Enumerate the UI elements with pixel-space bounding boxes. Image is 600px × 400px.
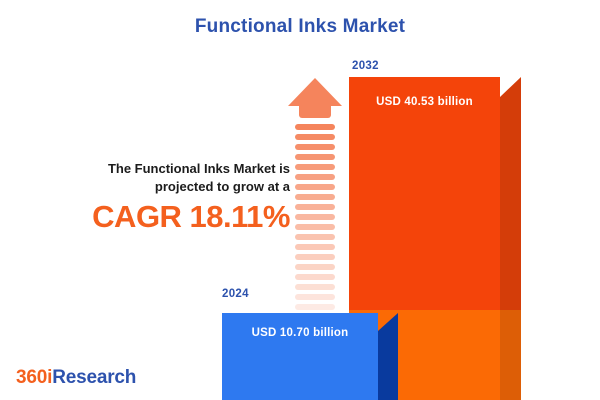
arrow-segment <box>295 164 335 170</box>
arrow-segment <box>295 244 335 250</box>
bar-2032-value-label: USD 40.53 billion <box>349 96 500 108</box>
arrow-segment <box>295 134 335 140</box>
arrow-segment <box>295 234 335 240</box>
arrow-segment <box>295 154 335 160</box>
arrow-segment <box>295 204 335 210</box>
arrow-segment <box>295 274 335 280</box>
brand-logo[interactable]: 360iResearch <box>16 367 136 389</box>
bar-2032-side-face-lower <box>500 310 521 400</box>
arrow-neck <box>299 105 331 118</box>
cagr-lead-text: The Functional Inks Market is projected … <box>40 160 290 195</box>
arrow-segment <box>295 174 335 180</box>
logo-text-research: Research <box>52 367 136 388</box>
arrow-triangle <box>288 78 342 106</box>
cagr-lead-line-1: The Functional Inks Market is <box>108 161 290 176</box>
bar-2024: USD 10.70 billion <box>222 313 398 400</box>
arrow-segment <box>295 194 335 200</box>
arrow-gradient-bars <box>295 124 335 344</box>
bar-year-label-2032: 2032 <box>352 60 379 72</box>
bar-2024-side-face <box>378 313 398 400</box>
cagr-value: CAGR 18.11% <box>40 201 290 232</box>
arrow-segment <box>295 294 335 300</box>
logo-text-360: 360 <box>16 367 47 388</box>
bar-year-label-2024: 2024 <box>222 288 249 300</box>
arrow-segment <box>295 124 335 130</box>
growth-arrow-icon <box>288 78 342 293</box>
page-title: Functional Inks Market <box>0 16 600 38</box>
arrow-head-icon <box>288 78 342 108</box>
arrow-segment <box>295 304 335 310</box>
arrow-segment <box>295 224 335 230</box>
arrow-segment <box>295 184 335 190</box>
arrow-segment <box>295 144 335 150</box>
bar-2024-value-label: USD 10.70 billion <box>222 327 378 339</box>
arrow-segment <box>295 214 335 220</box>
cagr-callout: The Functional Inks Market is projected … <box>40 160 290 232</box>
cagr-lead-line-2: projected to grow at a <box>155 179 290 194</box>
market-infographic: Functional Inks Market The Functional In… <box>0 0 600 400</box>
bar-2032-front-face <box>349 77 500 310</box>
arrow-segment <box>295 254 335 260</box>
arrow-segment <box>295 284 335 290</box>
arrow-segment <box>295 264 335 270</box>
